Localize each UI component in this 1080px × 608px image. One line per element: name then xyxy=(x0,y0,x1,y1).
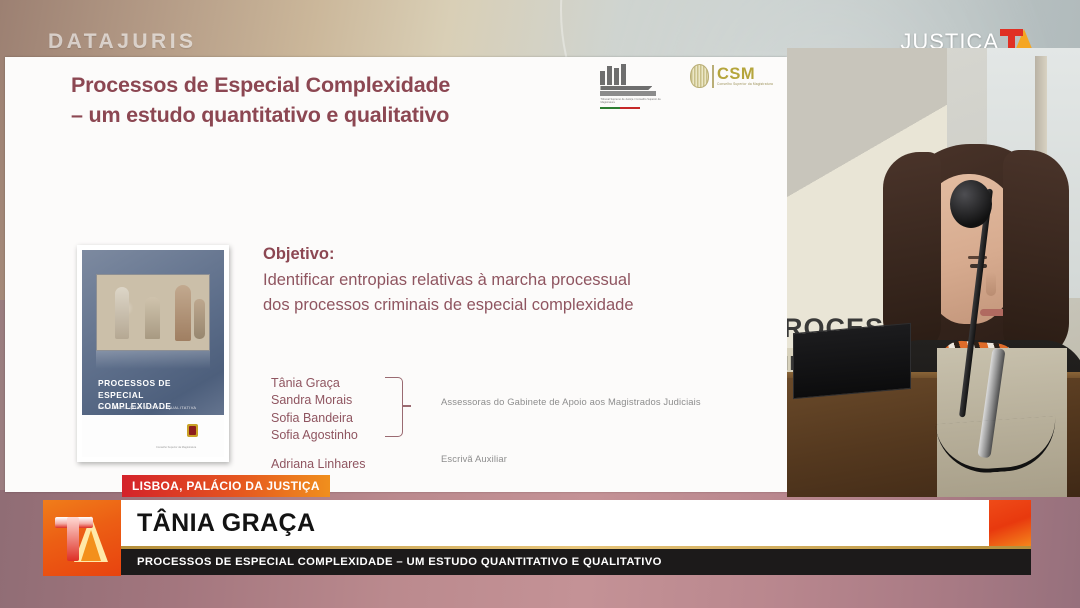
book-cover-footer: Conselho Superior da Magistratura xyxy=(82,415,224,457)
book-cover-subtitle: UMA ANÁLISE QUANTITATIVA E QUALITATIVA xyxy=(98,405,212,410)
csm-acronym: CSM xyxy=(717,66,773,82)
clerk-name: Adriana Linhares xyxy=(271,456,366,473)
courthouse-logo-caption: Tribunal Supremo de Justiça / Conselho S… xyxy=(600,98,662,105)
brace-bracket-icon xyxy=(385,377,403,437)
csm-logo-icon: CSM Conselho Superior da Magistratura xyxy=(690,64,773,88)
objective-text: Identificar entropias relativas à marcha… xyxy=(263,268,723,318)
presentation-slide: Processos de Especial Complexidade – um … xyxy=(5,57,787,492)
clerk-role: Escrivã Auxiliar xyxy=(441,453,507,464)
courthouse-logo-icon: Tribunal Supremo de Justiça / Conselho S… xyxy=(600,64,662,109)
csm-caption: Conselho Superior da Magistratura xyxy=(717,82,773,86)
objective-line1: Identificar entropias relativas à marcha… xyxy=(263,268,723,293)
book-cover-artwork xyxy=(96,274,210,351)
microphone-icon xyxy=(950,180,992,228)
speaker-hair-right xyxy=(1003,150,1069,360)
slide-title: Processos de Especial Complexidade – um … xyxy=(71,70,631,130)
laptop xyxy=(793,323,911,399)
book-cover-image: PROCESSOS DE ESPECIAL COMPLEXIDADE UMA A… xyxy=(77,245,229,462)
list-item: Sandra Morais xyxy=(271,392,366,409)
broadcast-screen: DATAJURIS JUSTIÇA Processos de Especial … xyxy=(0,0,1080,608)
book-cover-reflection xyxy=(96,351,210,369)
slide-title-line2: – um estudo quantitativo e qualitativo xyxy=(71,100,631,130)
list-item: Sofia Bandeira xyxy=(271,410,366,427)
list-item: Tânia Graça xyxy=(271,375,366,392)
lower-third-name-bar: TÂNIA GRAÇA xyxy=(121,500,1031,547)
speaker-subtitle: PROCESSOS DE ESPECIAL COMPLEXIDADE – UM … xyxy=(137,556,662,568)
speaker-hair-left xyxy=(883,152,941,352)
slide-title-line1: Processos de Especial Complexidade xyxy=(71,73,450,97)
lower-third-ta-logo-icon xyxy=(43,500,121,576)
objective-line2: dos processos criminais de especial comp… xyxy=(263,293,723,318)
team-members-role: Assessoras do Gabinete de Apoio aos Magi… xyxy=(441,396,701,407)
book-emblem-icon xyxy=(187,424,198,437)
book-cover-credit: Conselho Superior da Magistratura xyxy=(156,446,216,450)
list-item: Sofia Agostinho xyxy=(271,427,366,444)
lower-third-subtitle-bar: PROCESSOS DE ESPECIAL COMPLEXIDADE – UM … xyxy=(121,549,1031,575)
datajuris-watermark: DATAJURIS xyxy=(48,30,197,54)
lower-third-end-cap xyxy=(989,500,1031,547)
team-member-list: Tânia Graça Sandra Morais Sofia Bandeira… xyxy=(271,375,366,473)
location-tag: LISBOA, PALÁCIO DA JUSTIÇA xyxy=(122,475,330,497)
slide-logos: Tribunal Supremo de Justiça / Conselho S… xyxy=(600,64,773,109)
speaker-name: TÂNIA GRAÇA xyxy=(137,509,315,538)
objective-label: Objetivo: xyxy=(263,245,335,264)
speaker-video-feed: ROCESSO IDO TIÇA xyxy=(787,48,1080,497)
